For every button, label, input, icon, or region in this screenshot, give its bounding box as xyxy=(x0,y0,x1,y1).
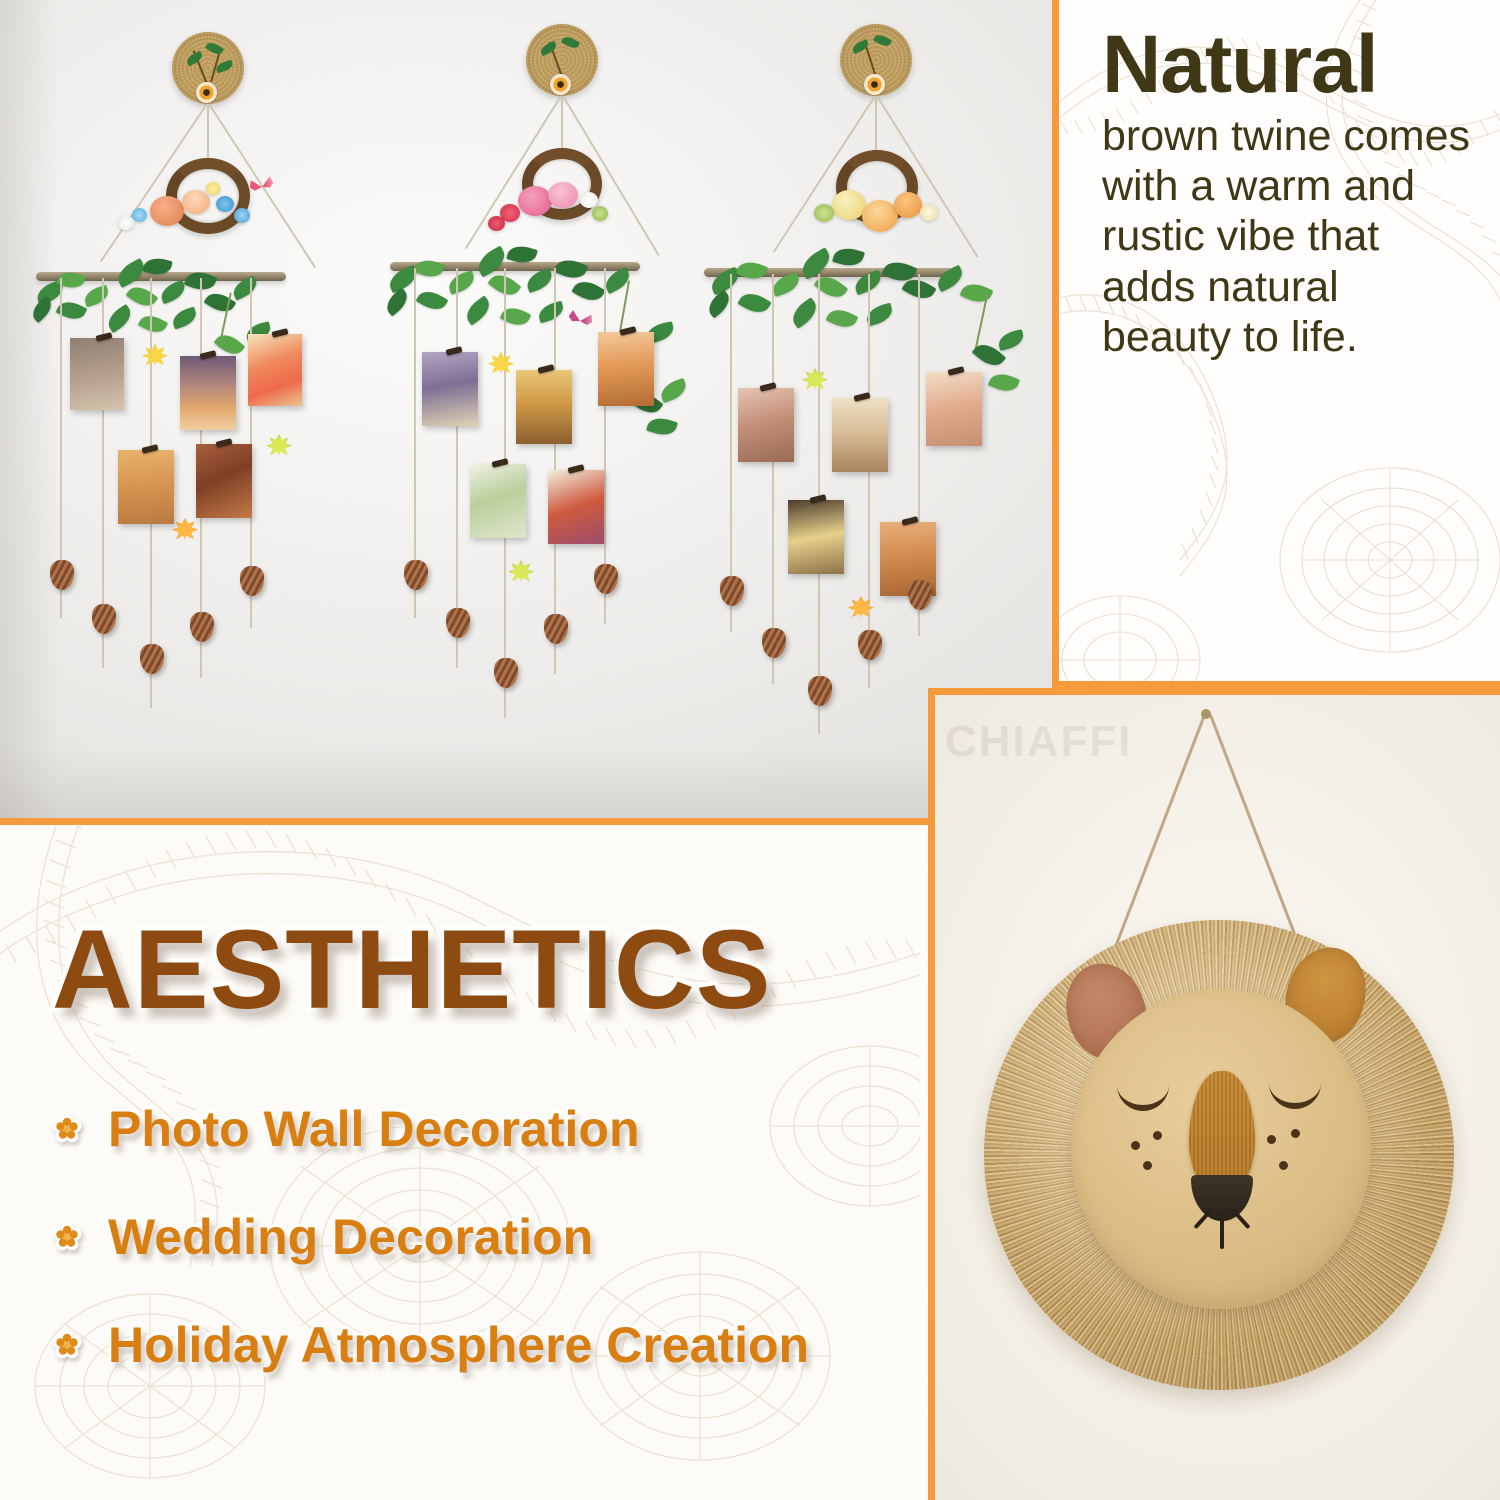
natural-heading: Natural xyxy=(1102,26,1486,105)
pine-cone xyxy=(494,658,518,688)
horizontal-divider-right xyxy=(1052,681,1500,688)
clipped-photo xyxy=(180,356,236,430)
clipped-photo xyxy=(196,444,252,518)
disc-flower xyxy=(550,74,571,95)
flower-rose xyxy=(548,182,578,208)
list-item-label: Wedding Decoration xyxy=(108,1208,593,1266)
clipped-photo xyxy=(832,398,888,472)
aesthetics-feature-list: Photo Wall Decoration xyxy=(52,1100,920,1374)
twine-center xyxy=(875,96,877,154)
pine-cone xyxy=(50,560,74,590)
flower-blue xyxy=(216,196,234,212)
vertical-divider-top xyxy=(1052,0,1059,688)
clipped-photo xyxy=(788,500,844,574)
natural-body-text: brown twine comes with a warm and rustic… xyxy=(1102,111,1472,362)
lion-freckle xyxy=(1153,1131,1162,1140)
lion-eye-right xyxy=(1269,1083,1321,1109)
watermark-text: CHIAFFI xyxy=(945,717,1133,767)
photo-hanger-3 xyxy=(690,0,1052,800)
flower-rose xyxy=(150,196,184,226)
hanging-string xyxy=(868,274,870,688)
lion-freckle xyxy=(1267,1135,1276,1144)
disc-flower xyxy=(864,74,885,95)
twine-center xyxy=(207,104,209,166)
pine-cone xyxy=(446,608,470,638)
list-item-label: Photo Wall Decoration xyxy=(108,1100,640,1158)
lion-freckle xyxy=(1279,1161,1288,1170)
lion-freckle xyxy=(1131,1141,1140,1150)
flower-bullet-icon xyxy=(52,1222,82,1252)
clipped-photo xyxy=(548,470,604,544)
aesthetics-heading: AESTHETICS xyxy=(52,914,920,1026)
clipped-photo xyxy=(422,352,478,426)
list-item: Wedding Decoration xyxy=(52,1208,920,1266)
flower-yellow xyxy=(832,190,866,220)
flower-green xyxy=(814,204,834,222)
pine-cone xyxy=(858,630,882,660)
flower-bullet-icon xyxy=(52,1114,82,1144)
horizontal-divider xyxy=(0,818,935,825)
pine-cone xyxy=(762,628,786,658)
list-item: Holiday Atmosphere Creation xyxy=(52,1316,920,1374)
flower-yellow xyxy=(206,182,220,195)
clipped-photo xyxy=(516,370,572,444)
flower-orange xyxy=(894,192,922,218)
pine-cone xyxy=(92,604,116,634)
hanging-string xyxy=(772,274,774,684)
clipped-photo xyxy=(598,332,654,406)
photo-wall-display-image xyxy=(0,0,1052,818)
disc-flower xyxy=(196,82,217,103)
pine-cone xyxy=(720,576,744,606)
flower-blue xyxy=(132,208,147,222)
pine-cone xyxy=(544,614,568,644)
clipped-photo xyxy=(470,464,526,538)
flower-peach xyxy=(182,190,210,214)
clipped-photo xyxy=(70,338,124,410)
flower-bullet-icon xyxy=(52,1330,82,1360)
pine-cone xyxy=(240,566,264,596)
flower-white xyxy=(580,192,598,208)
flower-pink xyxy=(518,186,552,216)
cord-knot xyxy=(1201,709,1211,719)
photo-hanger-2 xyxy=(340,0,700,800)
pine-cone xyxy=(404,560,428,590)
photo-hanger-1 xyxy=(0,0,360,780)
maple-leaf-decor xyxy=(172,518,198,540)
lion-chin-line xyxy=(1220,1215,1224,1249)
clipped-photo xyxy=(926,372,982,446)
lion-eye-left xyxy=(1117,1085,1169,1111)
flower-cream xyxy=(920,204,938,221)
maple-leaf-decor xyxy=(266,434,292,456)
clipped-photo xyxy=(738,388,794,462)
lion-freckle xyxy=(1291,1129,1300,1138)
lion-freckle xyxy=(1143,1161,1152,1170)
pine-cone xyxy=(594,564,618,594)
maple-leaf-decor xyxy=(848,596,874,618)
lion-face xyxy=(1071,989,1371,1309)
lion-figure xyxy=(981,917,1461,1397)
list-item: Photo Wall Decoration xyxy=(52,1100,920,1158)
maple-leaf-decor xyxy=(508,560,534,582)
natural-text-panel: Natural brown twine comes with a warm an… xyxy=(1060,0,1500,682)
butterfly-decor xyxy=(248,176,275,199)
clipped-photo xyxy=(118,450,174,524)
ivy-garland-1 xyxy=(10,228,310,348)
pine-cone xyxy=(908,580,932,610)
twine-center xyxy=(561,96,563,154)
clipped-photo xyxy=(248,334,302,406)
lion-wall-hanging-image: CHIAFFI xyxy=(928,688,1500,1500)
product-infographic: Natural brown twine comes with a warm an… xyxy=(0,0,1500,1500)
pine-cone xyxy=(190,612,214,642)
flower-blue xyxy=(234,208,250,223)
aesthetics-panel: AESTHETICS xyxy=(0,826,920,1500)
pine-cone xyxy=(808,676,832,706)
pine-cone xyxy=(140,644,164,674)
list-item-label: Holiday Atmosphere Creation xyxy=(108,1316,809,1374)
